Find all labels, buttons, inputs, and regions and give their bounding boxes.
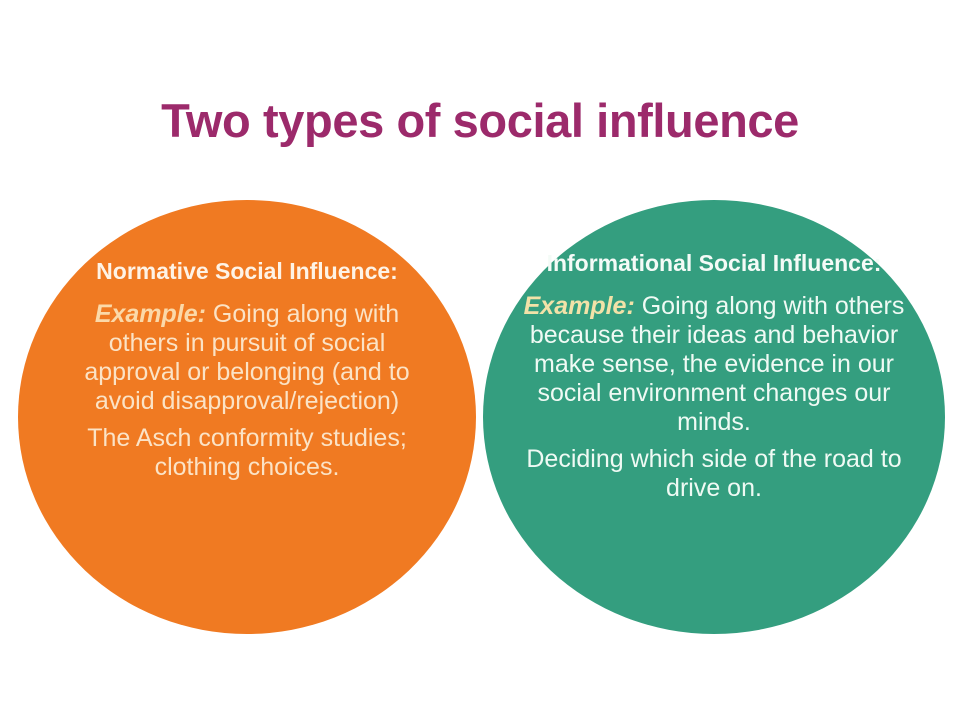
normative-example-label: Example: (95, 300, 206, 328)
informational-influence-circle: Informational Social Influence: Example:… (483, 200, 945, 634)
informational-circle-content: Informational Social Influence: Example:… (483, 250, 945, 503)
informational-heading: Informational Social Influence: (521, 250, 907, 276)
informational-detail-paragraph: Deciding which side of the road to drive… (521, 445, 907, 503)
normative-influence-circle: Normative Social Influence: Example: Goi… (18, 200, 476, 634)
slide-canvas: Two types of social influence Normative … (0, 0, 960, 720)
normative-detail-paragraph: The Asch conformity studies; clothing ch… (74, 424, 420, 482)
normative-circle-content: Normative Social Influence: Example: Goi… (18, 258, 476, 482)
informational-example-label: Example: (524, 292, 635, 320)
informational-example-paragraph: Example: Going along with others because… (521, 292, 907, 437)
page-title: Two types of social influence (0, 93, 960, 149)
normative-example-paragraph: Example: Going along with others in purs… (74, 300, 420, 416)
normative-heading: Normative Social Influence: (74, 258, 420, 284)
